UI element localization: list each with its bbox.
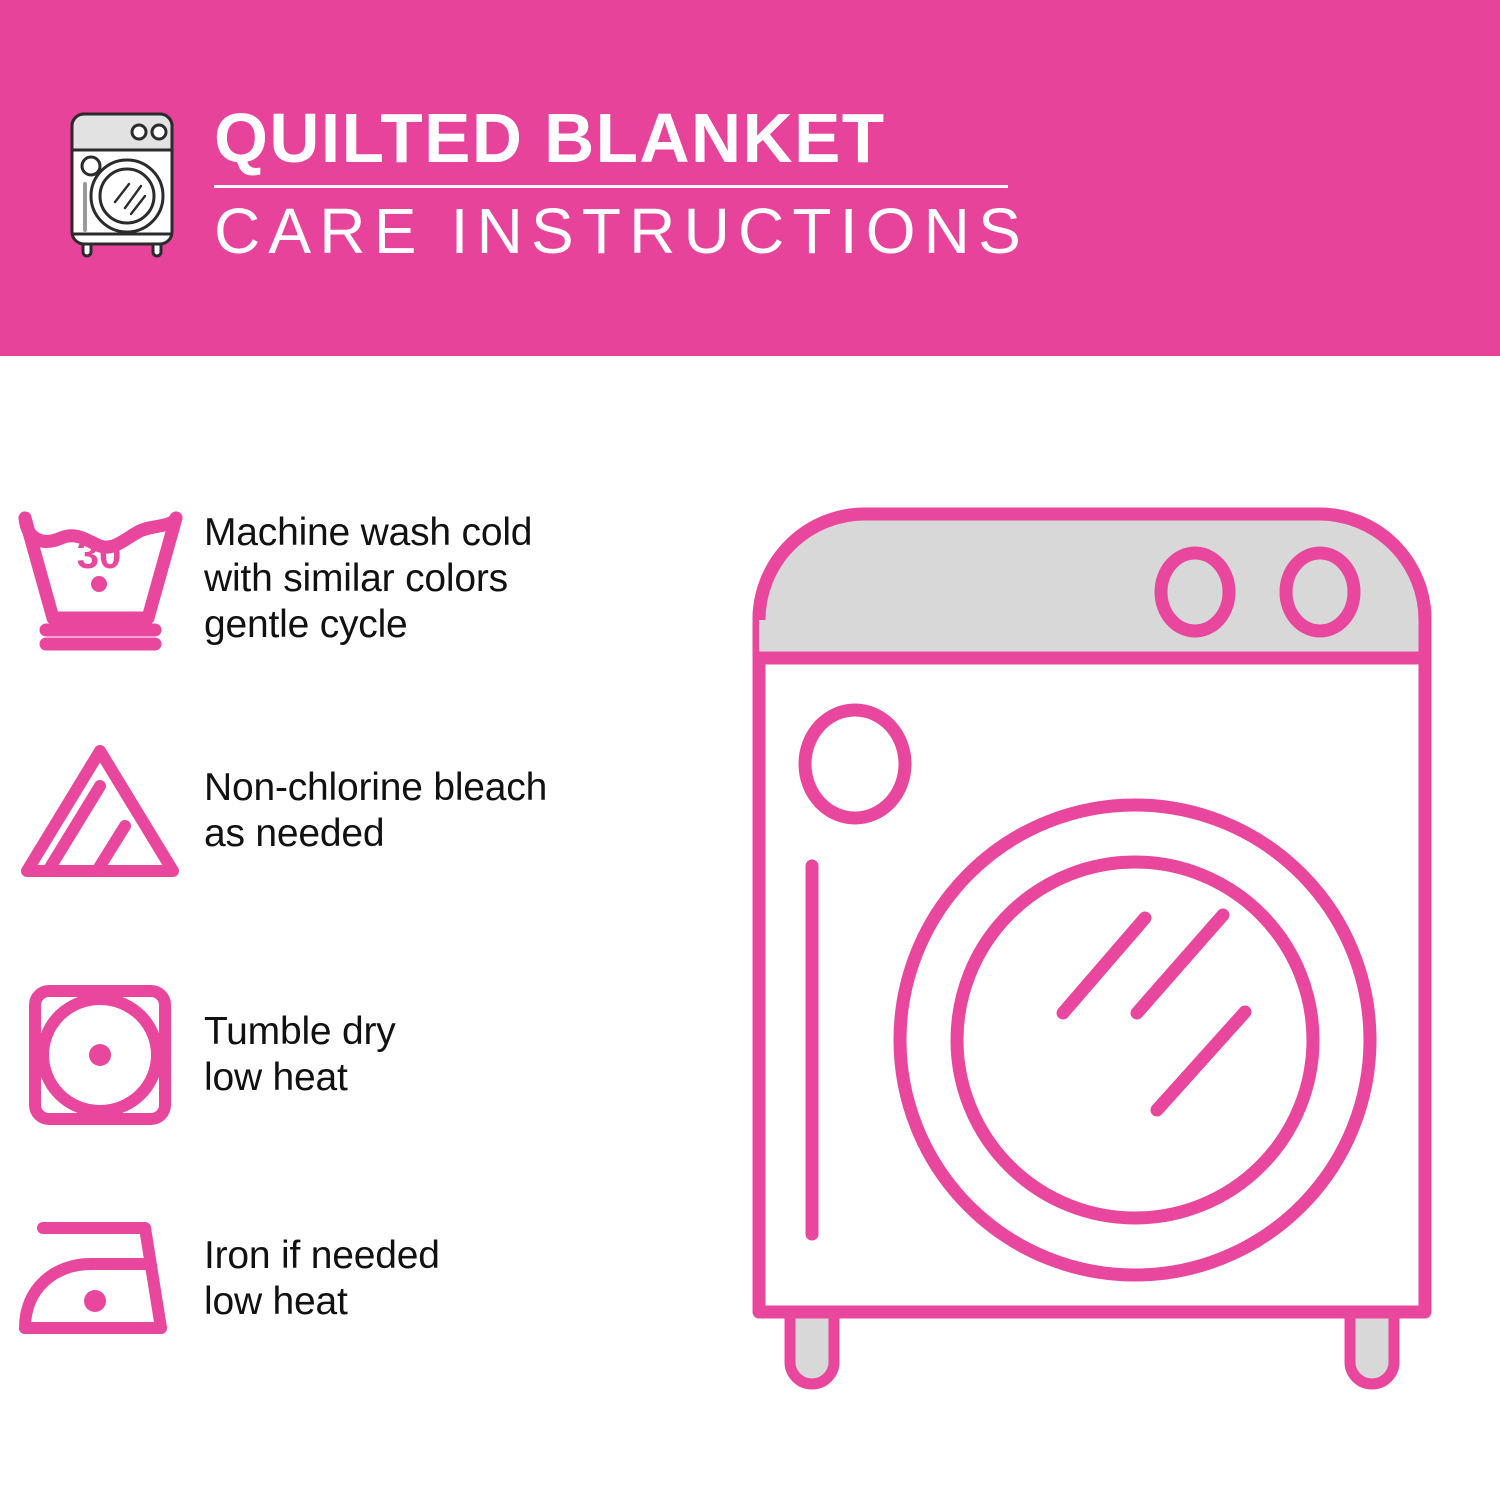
list-item: Iron if needed low heat xyxy=(0,1216,700,1341)
title-divider xyxy=(214,185,1008,188)
washing-machine-logo-icon xyxy=(63,106,193,261)
list-item-label: Non-chlorine bleach as needed xyxy=(200,765,547,857)
washer-indicator-circle xyxy=(805,710,905,818)
washer-knob-left xyxy=(1161,553,1229,631)
iron-icon xyxy=(0,1216,200,1341)
care-instructions-infographic: QUILTED BLANKET CARE INSTRUCTIONS xyxy=(0,0,1500,1500)
wash-tub-30-icon: 30 xyxy=(0,506,200,651)
wash-temperature-label: 30 xyxy=(76,533,121,577)
washing-machine-illustration xyxy=(745,500,1455,1430)
tumble-dry-icon xyxy=(0,981,200,1129)
list-item-label: Tumble dry low heat xyxy=(200,1009,396,1101)
list-item: Tumble dry low heat xyxy=(0,981,700,1129)
instructions-list: 30 Machine wash cold with similar colors… xyxy=(0,356,720,1500)
list-item-label: Machine wash cold with similar colors ge… xyxy=(200,510,532,648)
list-item: 30 Machine wash cold with similar colors… xyxy=(0,506,700,651)
page-title: QUILTED BLANKET xyxy=(214,100,1006,176)
washer-door-inner-ring xyxy=(957,862,1313,1218)
bleach-triangle-icon xyxy=(0,741,200,881)
list-item-label: Iron if needed low heat xyxy=(200,1233,440,1325)
washer-knob-right xyxy=(1286,553,1354,631)
header-text-block: QUILTED BLANKET CARE INSTRUCTIONS xyxy=(214,100,1014,266)
page-subtitle: CARE INSTRUCTIONS xyxy=(214,196,1014,266)
header-band: QUILTED BLANKET CARE INSTRUCTIONS xyxy=(0,0,1500,356)
list-item: Non-chlorine bleach as needed xyxy=(0,741,700,881)
